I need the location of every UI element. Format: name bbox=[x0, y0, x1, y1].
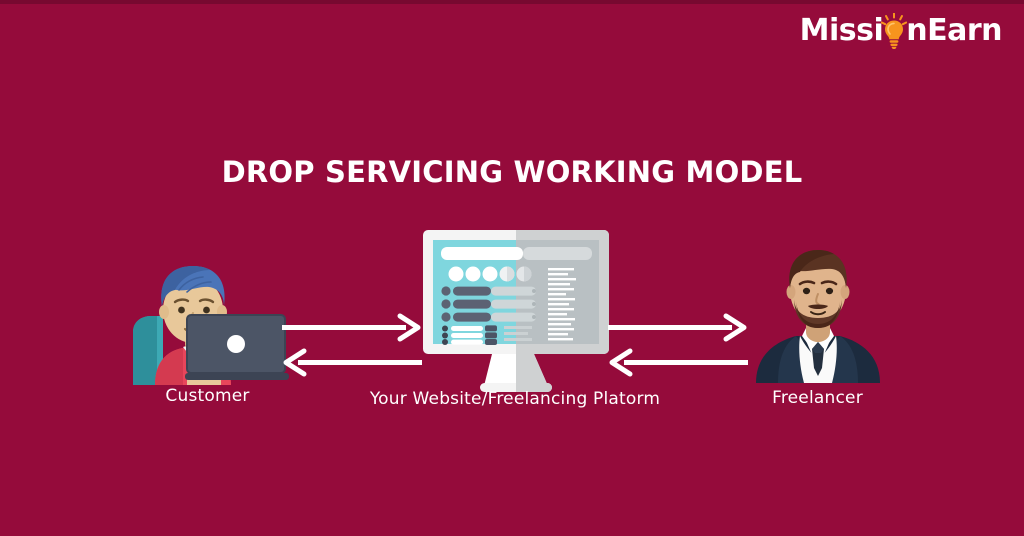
arrow-left-icon bbox=[286, 351, 422, 374]
connector-pair-website-freelancer bbox=[608, 312, 748, 380]
laptop-icon bbox=[185, 313, 290, 383]
screen-list-rows bbox=[441, 286, 536, 321]
diagram-node-freelancer bbox=[748, 248, 888, 383]
label-website: Your Website/Freelancing Platorm bbox=[340, 389, 690, 409]
screen-avatar-row bbox=[449, 267, 532, 282]
label-customer: Customer bbox=[95, 386, 320, 406]
screen-text-block-middle bbox=[504, 326, 532, 341]
arrow-right-icon bbox=[282, 316, 418, 339]
diagram-node-website bbox=[420, 228, 612, 393]
connector-pair-customer-website bbox=[282, 312, 422, 380]
label-freelancer: Freelancer bbox=[735, 388, 900, 408]
arrow-left-icon bbox=[612, 351, 748, 374]
arrow-right-icon bbox=[608, 316, 744, 339]
diagram-canvas: Customer bbox=[0, 0, 1024, 536]
diagram-node-customer bbox=[125, 250, 290, 385]
